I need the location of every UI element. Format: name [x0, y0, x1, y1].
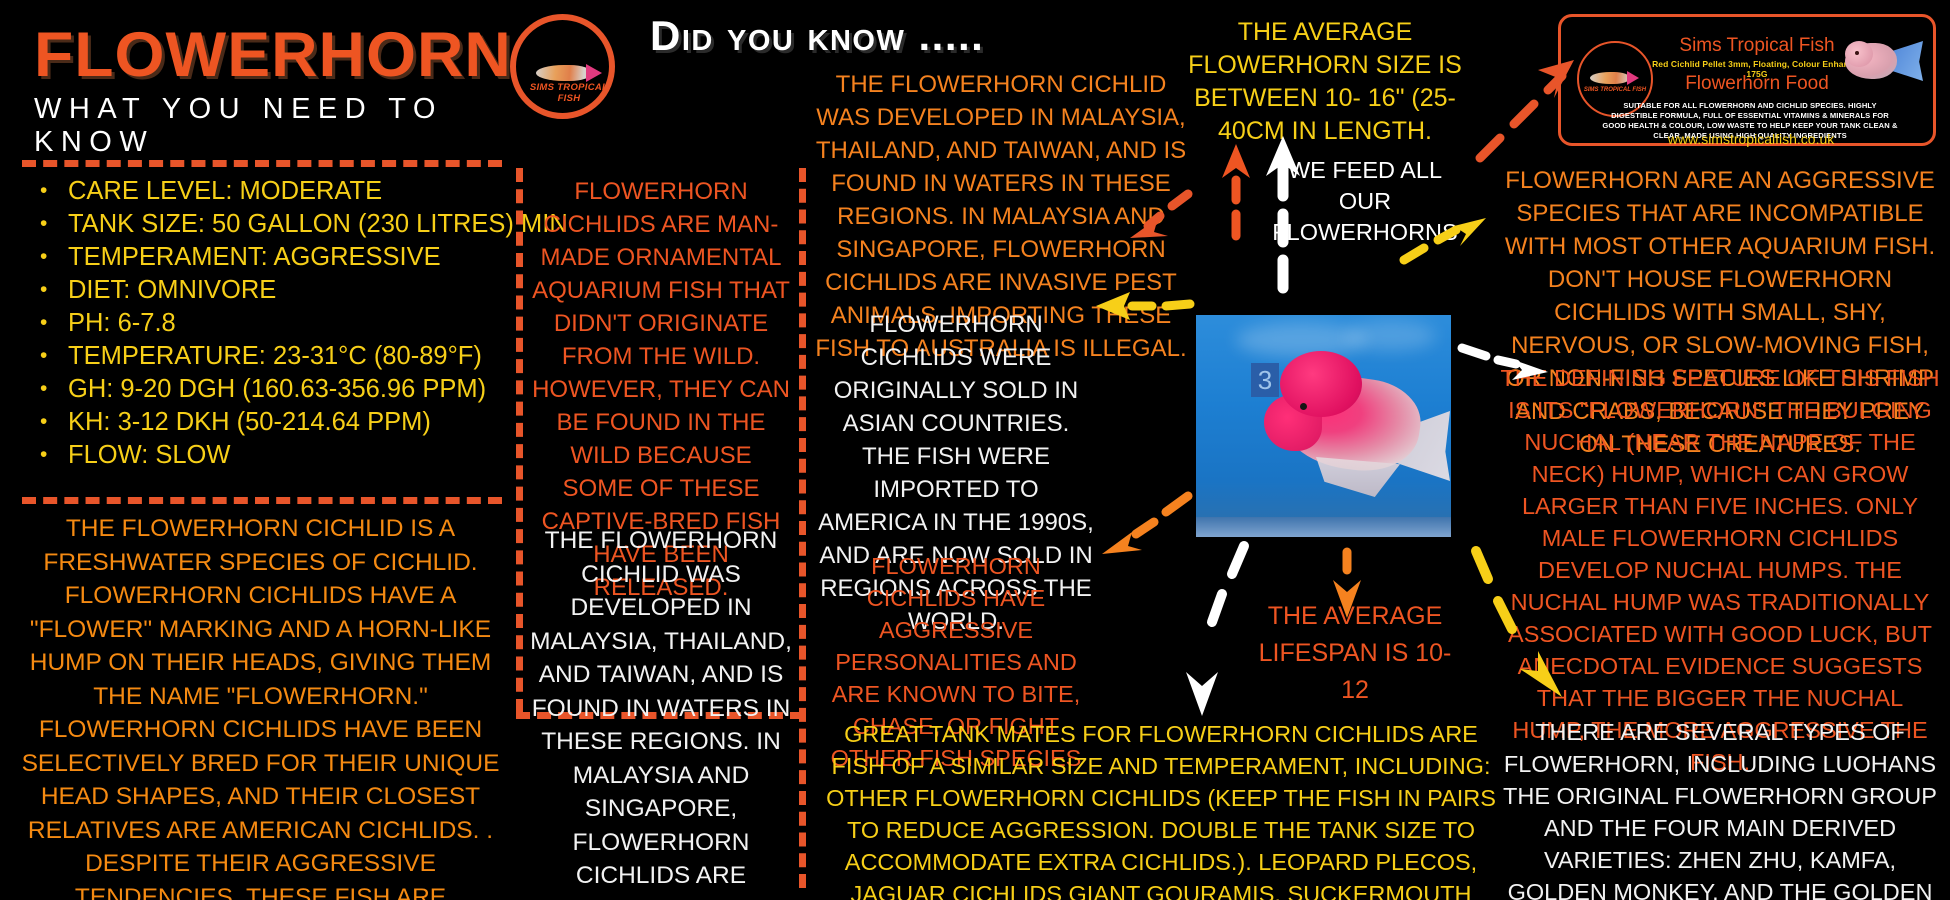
product-fish-photo	[1845, 35, 1923, 87]
list-item: TEMPERAMENT: AGGRESSIVE	[30, 241, 500, 274]
arrow-downright-yellow	[1466, 545, 1586, 705]
divider-mid	[22, 497, 502, 504]
divider-col2-left	[516, 168, 523, 713]
product-fish-body	[1590, 72, 1630, 84]
fish-body	[536, 65, 592, 81]
developed-paragraph: THE FLOWERHORN CICHLID WAS DEVELOPED IN …	[526, 524, 796, 900]
photo-fish-nuchal-hump	[1280, 351, 1362, 417]
arrow-upright-orange	[1470, 52, 1580, 164]
arrow-down-white	[1166, 540, 1256, 720]
flowerhorn-photo: 3	[1196, 315, 1451, 537]
product-photo-head	[1845, 41, 1873, 67]
list-item: GH: 9-20 DGH (160.63-356.96 PPM)	[30, 373, 500, 406]
product-advert-box[interactable]: SIMS TROPICAL FISH Sims Tropical Fish Re…	[1558, 14, 1936, 146]
arrow-right-white	[1460, 338, 1550, 382]
arrow-right-yellow-top	[1400, 216, 1490, 266]
product-logo-caption: SIMS TROPICAL FISH	[1583, 87, 1647, 93]
arrow-left-yellow	[1094, 288, 1194, 324]
list-item: PH: 6-7.8	[30, 307, 500, 340]
left-panel: FLOWERHORN WHAT YOU NEED TO KNOW CARE LE…	[0, 0, 516, 900]
list-item: TANK SIZE: 50 GALLON (230 LITRES) MIN	[30, 208, 500, 241]
divider-col2-right	[799, 168, 806, 888]
product-name: Flowerhorn Food	[1657, 73, 1857, 95]
product-fish-tail	[1627, 71, 1639, 85]
photo-tank-floor	[1196, 517, 1451, 537]
product-fish-icon	[1587, 69, 1641, 87]
list-item: CARE LEVEL: MODERATE	[30, 175, 500, 208]
arrow-down-orange	[1330, 548, 1364, 622]
arrow-left-orange-top	[1128, 186, 1198, 242]
photo-fish-eye	[1300, 403, 1307, 410]
logo-caption: SIMS TROPICAL FISH	[524, 82, 614, 104]
list-item: DIET: OMNIVORE	[30, 274, 500, 307]
care-facts-list: CARE LEVEL: MODERATE TANK SIZE: 50 GALLO…	[30, 175, 500, 472]
page-subtitle: WHAT YOU NEED TO KNOW	[34, 93, 504, 159]
photo-glare-left	[1236, 323, 1366, 357]
product-photo-eye	[1855, 51, 1859, 55]
product-website-link[interactable]: www.simstropicalfish.co.uk	[1631, 131, 1871, 147]
arrow-up-white	[1258, 120, 1308, 290]
page-title: FLOWERHORN	[34, 24, 513, 87]
product-brand-name: Sims Tropical Fish	[1657, 35, 1857, 57]
intro-paragraph: THE FLOWERHORN CICHLID IS A FRESHWATER S…	[18, 512, 503, 900]
fish-tail	[586, 64, 602, 82]
tank-mates-paragraph: GREAT TANK MATES FOR FLOWERHORN CICHLIDS…	[826, 718, 1496, 900]
right-types-paragraph: THERE ARE SEVERAL TYPES OF FLOWERHORN, I…	[1494, 716, 1946, 900]
photo-glare-right	[1346, 321, 1436, 351]
tank-number-label: 3	[1251, 363, 1279, 397]
list-item: FLOW: SLOW	[30, 439, 500, 472]
column-two: FLOWERHORN CICHLIDS ARE MAN-MADE ORNAMEN…	[516, 0, 806, 900]
title-block: FLOWERHORN WHAT YOU NEED TO KNOW	[34, 24, 504, 159]
list-item: KH: 3-12 DKH (50-214.64 PPM)	[30, 406, 500, 439]
list-item: TEMPERATURE: 23-31°C (80-89°F)	[30, 340, 500, 373]
arrow-up-orange	[1218, 130, 1252, 240]
average-size-text: THE AVERAGE FLOWERHORN SIZE IS BETWEEN 1…	[1170, 16, 1480, 148]
did-you-know-heading: Did you know .....	[650, 12, 984, 60]
divider-top	[22, 160, 502, 167]
infographic-page: FLOWERHORN WHAT YOU NEED TO KNOW CARE LE…	[0, 0, 1950, 900]
brand-logo: SIMS TROPICAL FISH	[510, 14, 615, 119]
